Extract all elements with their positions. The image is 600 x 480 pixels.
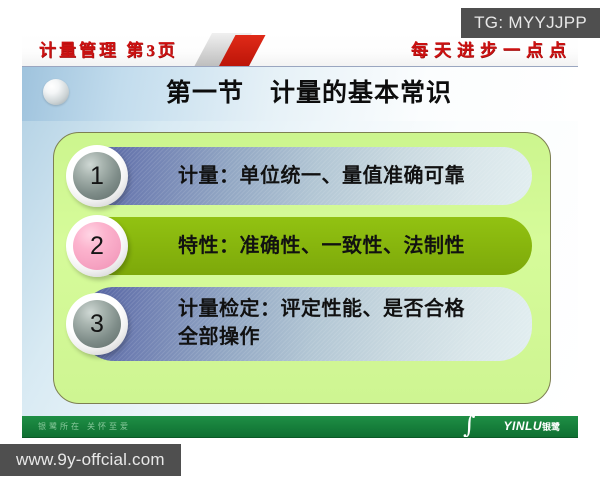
item-number-2: 2 (73, 222, 121, 270)
item-badge-2: 2 (66, 215, 128, 277)
slide-body: 计量：单位统一、量值准确可靠 1 特性：准确性、一致性、法制性 2 计量检定：评… (22, 121, 578, 416)
brand-logo-latin: YINLU (503, 419, 542, 433)
slide-title-band: 第一节 计量的基本常识 (22, 67, 578, 121)
list-item: 计量：单位统一、量值准确可靠 1 (54, 147, 552, 209)
item-badge-3: 3 (66, 293, 128, 355)
list-item: 特性：准确性、一致性、法制性 2 (54, 217, 552, 279)
swoosh-icon: ∫ (452, 416, 486, 438)
list-item: 计量检定：评定性能、是否合格 全部操作 3 (54, 287, 552, 365)
footer-bottom-rule (22, 437, 578, 438)
content-panel: 计量：单位统一、量值准确可靠 1 特性：准确性、一致性、法制性 2 计量检定：评… (53, 132, 551, 404)
slide-header-band: 计量管理 第3页 每天进步一点点 (22, 33, 578, 67)
header-left-title: 计量管理 第3页 (39, 36, 178, 61)
footer-slogan: 银鹭所在 关怀至爱 (38, 421, 131, 432)
slide-canvas: 计量管理 第3页 每天进步一点点 第一节 计量的基本常识 计量：单位统一、量值准… (22, 33, 578, 438)
brand-logo-cn: 银鹭 (542, 422, 560, 432)
website-watermark: www.9y-offcial.com (0, 444, 181, 476)
item-pill-2: 特性：准确性、一致性、法制性 (80, 217, 532, 275)
item-pill-3: 计量检定：评定性能、是否合格 全部操作 (80, 287, 532, 361)
item-number-1: 1 (73, 152, 121, 200)
item-pill-1: 计量：单位统一、量值准确可靠 (80, 147, 532, 205)
page-title: 第一节 计量的基本常识 (22, 73, 578, 109)
telegram-watermark: TG: MYYJJPP (461, 8, 600, 38)
slide-footer-band: 银鹭所在 关怀至爱 ∫ YINLU银鹭 (22, 416, 578, 438)
item-text-3: 计量检定：评定性能、是否合格 全部操作 (178, 295, 520, 350)
swoosh-glyph: ∫ (463, 416, 476, 436)
brand-logo: YINLU银鹭 (503, 419, 560, 433)
item-number-3: 3 (73, 300, 121, 348)
item-text-1: 计量：单位统一、量值准确可靠 (178, 162, 520, 190)
item-text-2: 特性：准确性、一致性、法制性 (178, 232, 520, 260)
item-badge-1: 1 (66, 145, 128, 207)
header-right-slogan: 每天进步一点点 (411, 36, 572, 61)
